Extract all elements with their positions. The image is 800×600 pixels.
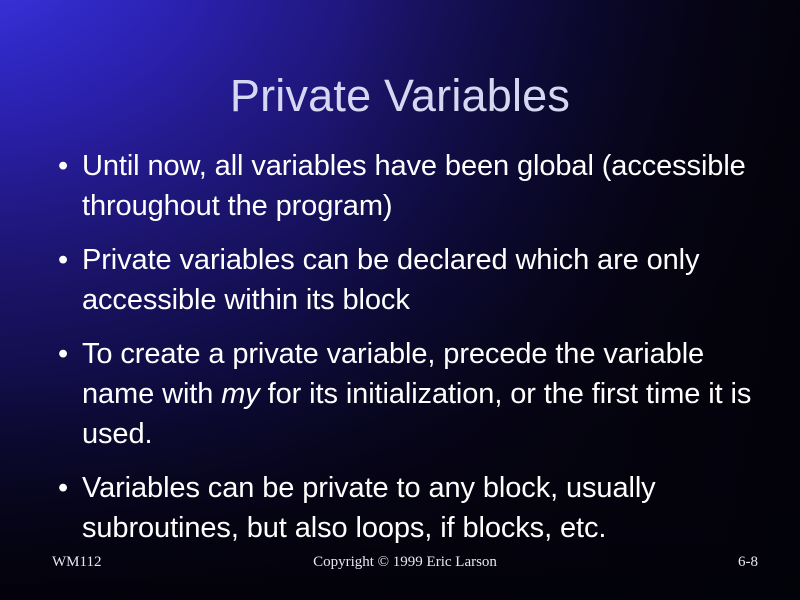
bullet-point-icon: • <box>52 468 82 508</box>
slide-title: Private Variables <box>0 72 800 119</box>
footer-course-code: WM112 <box>52 554 101 571</box>
list-item: • Private variables can be declared whic… <box>52 240 758 320</box>
bullet-text-private-declared: Private variables can be declared which … <box>82 240 758 320</box>
footer-page-number: 6-8 <box>738 554 758 571</box>
slide-footer: WM112 Copyright © 1999 Eric Larson 6-8 <box>52 551 758 573</box>
list-item: • Until now, all variables have been glo… <box>52 146 758 226</box>
bullet-point-icon: • <box>52 334 82 374</box>
bullet-text-my-keyword: To create a private variable, precede th… <box>82 334 758 454</box>
bullet-list: • Until now, all variables have been glo… <box>52 146 758 548</box>
list-item: • To create a private variable, precede … <box>52 334 758 454</box>
list-item: • Variables can be private to any block,… <box>52 468 758 548</box>
slide-content: Private Variables • Until now, all varia… <box>0 0 800 600</box>
bullet-text-any-block: Variables can be private to any block, u… <box>82 468 758 548</box>
bullet-point-icon: • <box>52 146 82 186</box>
bullet-text-global-variables: Until now, all variables have been globa… <box>82 146 758 226</box>
footer-copyright: Copyright © 1999 Eric Larson <box>52 554 758 571</box>
presentation-slide: Private Variables • Until now, all varia… <box>0 0 800 600</box>
bullet-point-icon: • <box>52 240 82 280</box>
